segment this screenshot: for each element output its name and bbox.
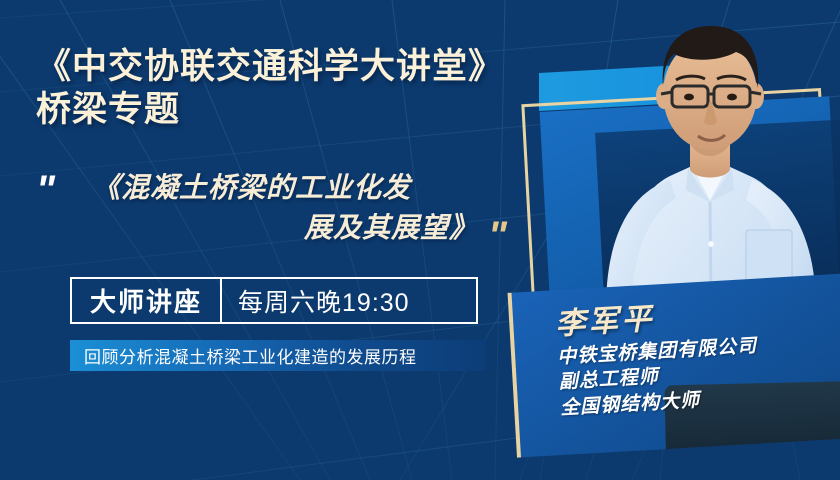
page-title: 《中交协联交通科学大讲堂》 桥梁专题 <box>36 46 516 131</box>
lecture-time: 每周六晚19:30 <box>222 283 476 319</box>
headline-line-2: 桥梁专题 <box>36 89 516 132</box>
tagline-bar: 回顾分析混凝土桥梁工业化建造的发展历程 <box>70 340 486 371</box>
talk-title-line-1: 《混凝土桥梁的工业化发 <box>84 168 504 208</box>
lecture-schedule-box: 大师讲座 每周六晚19:30 <box>70 277 478 324</box>
speaker-titles: 中铁宝桥集团有限公司 副总工程师 全国钢结构大师 <box>557 328 840 421</box>
quote-open-icon: " <box>36 170 55 210</box>
poster-canvas: 《中交协联交通科学大讲堂》 桥梁专题 " 《混凝土桥梁的工业化发 展及其展望》 … <box>0 0 840 480</box>
headline-line-1: 《中交协联交通科学大讲堂》 <box>36 47 504 86</box>
lecture-label: 大师讲座 <box>72 282 220 319</box>
tagline-text: 回顾分析混凝土桥梁工业化建造的发展历程 <box>70 343 417 368</box>
talk-title-line-2: 展及其展望》 <box>84 208 504 248</box>
speaker-nameplate: 李军平 中铁宝桥集团有限公司 副总工程师 全国钢结构大师 <box>508 273 840 457</box>
talk-title: 《混凝土桥梁的工业化发 展及其展望》 <box>84 168 504 248</box>
talk-title-block: " 《混凝土桥梁的工业化发 展及其展望》 " <box>36 168 536 248</box>
quote-close-icon: " <box>488 216 507 256</box>
